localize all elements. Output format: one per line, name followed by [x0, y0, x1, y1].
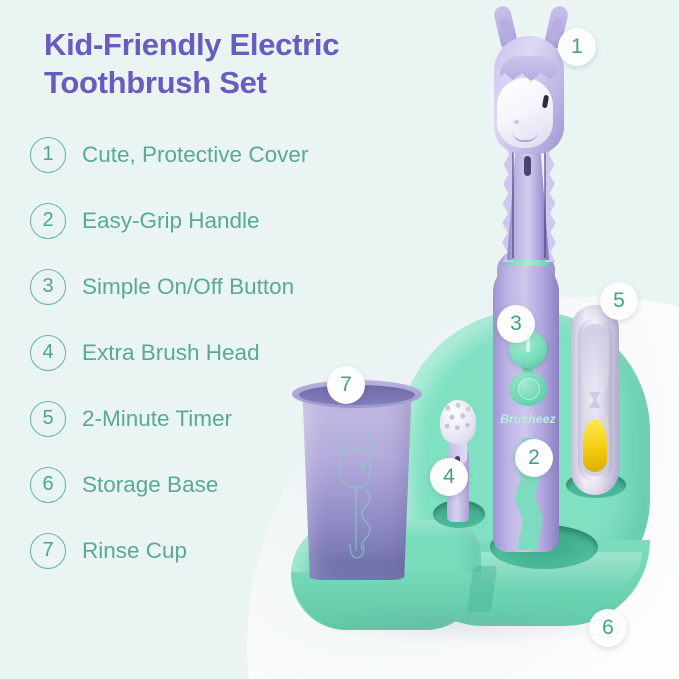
brush-bristles — [441, 398, 475, 438]
power-button-rings — [518, 378, 540, 400]
cup-llama-graphic — [322, 432, 392, 564]
timer-upper-bulb — [581, 324, 609, 396]
product-infographic: Kid-Friendly Electric Toothbrush Set 1 C… — [0, 0, 679, 679]
cover-seam-right — [544, 140, 546, 258]
timer-sand — [583, 420, 607, 472]
brand-logo: Brusheez — [500, 412, 556, 426]
callout-brush-head: 4 — [430, 458, 468, 496]
cover-slot — [524, 156, 531, 176]
callout-timer: 5 — [600, 282, 638, 320]
cover-seam-left — [512, 140, 514, 258]
llama-nostril — [514, 120, 519, 124]
product-illustration: Brusheez — [0, 0, 679, 679]
callout-handle: 2 — [515, 439, 553, 477]
callout-button: 3 — [497, 305, 535, 343]
callout-base: 6 — [589, 609, 627, 647]
callout-cup: 7 — [327, 366, 365, 404]
callout-cover: 1 — [558, 28, 596, 66]
